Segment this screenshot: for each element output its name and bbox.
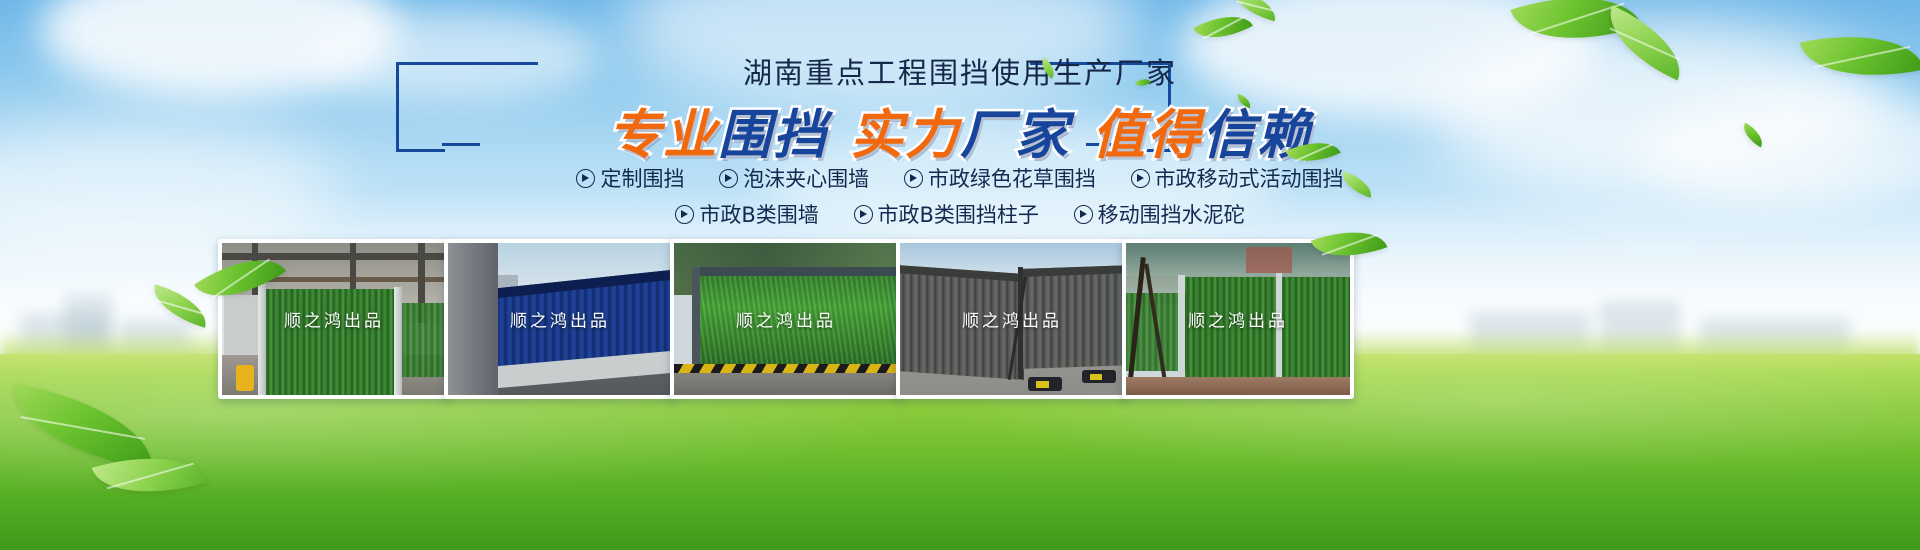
promo-banner: 湖南重点工程围挡使用生产厂家 专业围挡实力厂家值得信赖 定制围挡 泡沫夹心围墙 … xyxy=(0,0,1920,550)
grey-steel-panel xyxy=(896,265,1024,380)
green-hedge-panel xyxy=(1182,277,1350,381)
grass-print-panel xyxy=(696,267,898,367)
photo-scene xyxy=(1126,243,1350,395)
green-hedge-panel xyxy=(402,303,446,377)
green-hedge-panel xyxy=(262,289,398,395)
gallery-photo-5[interactable]: 顺之鸿出品 xyxy=(1122,239,1354,399)
grey-steel-panel xyxy=(1020,265,1128,369)
gallery-photo-2[interactable]: 顺之鸿出品 xyxy=(444,239,676,399)
product-photo-gallery: 顺之鸿出品 顺之鸿出品 xyxy=(0,0,1920,550)
gallery-photo-3[interactable]: 顺之鸿出品 xyxy=(670,239,902,399)
photo-scene xyxy=(448,243,672,395)
photo-scene xyxy=(674,243,898,395)
gallery-photo-4[interactable]: 顺之鸿出品 xyxy=(896,239,1128,399)
photo-scene xyxy=(900,243,1124,395)
